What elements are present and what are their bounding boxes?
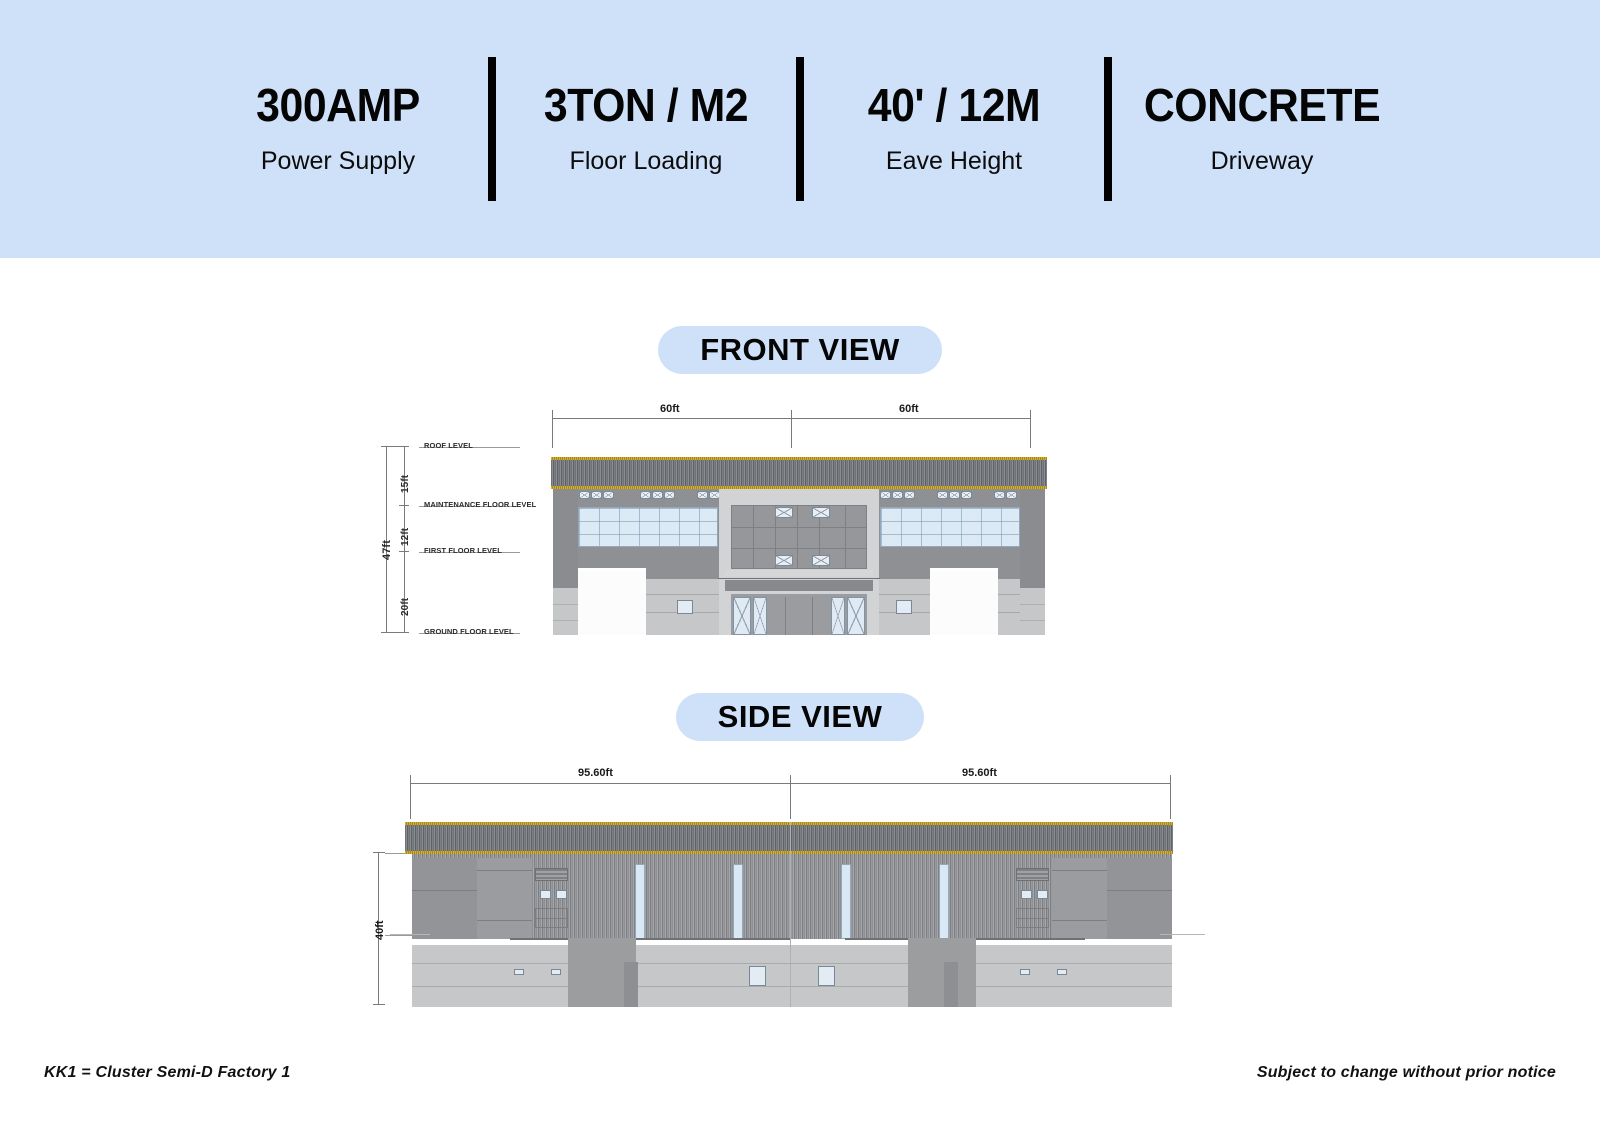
side-dim-label-left: 95.60ft — [578, 767, 613, 779]
side-awning-left — [510, 938, 790, 940]
side-b-louver — [1016, 868, 1049, 881]
side-dim-tick-mid — [790, 775, 791, 819]
side-ground-ref-right — [1160, 934, 1205, 935]
side-podium-win-5 — [749, 966, 766, 986]
side-a-block2-line-2 — [477, 920, 532, 921]
side-dim-label-right: 95.60ft — [962, 767, 997, 779]
side-b-win-2 — [1037, 890, 1048, 899]
side-b-panel-line — [1016, 918, 1049, 919]
side-roof-fascia — [405, 822, 1173, 854]
side-b-striplight-1 — [841, 864, 851, 939]
side-b-striplight-2 — [939, 864, 949, 939]
side-a-louver — [535, 868, 568, 881]
side-a-panel-line — [535, 918, 568, 919]
side-a-endblock-line — [412, 890, 477, 891]
side-a-block2-line-1 — [477, 870, 532, 871]
side-b-endblock — [1107, 858, 1172, 939]
side-a-striplight-1 — [635, 864, 645, 939]
side-core-left-door — [624, 962, 638, 1007]
side-core-right — [908, 938, 976, 1007]
side-center-axis — [790, 822, 791, 1007]
side-dim-tick-top — [373, 852, 385, 853]
side-view-drawing: 95.60ft 95.60ft 40ft — [0, 0, 1600, 1126]
side-b-block2-line-1 — [1052, 870, 1107, 871]
side-dim-tick-bottom — [373, 1004, 385, 1005]
side-dim-tick-left — [410, 775, 411, 819]
footer-left-note: KK1 = Cluster Semi-D Factory 1 — [44, 1064, 291, 1082]
side-a-striplight-2 — [733, 864, 743, 939]
side-a-win-1 — [540, 890, 551, 899]
side-podium-base — [412, 945, 1172, 1007]
side-podium-line-2 — [412, 986, 1172, 987]
side-a-win-2 — [556, 890, 567, 899]
side-podium-win-6 — [818, 966, 835, 986]
side-podium-win-1 — [514, 969, 524, 975]
side-podium-win-4 — [1057, 969, 1067, 975]
side-a-endblock — [412, 858, 477, 939]
side-dim-label-height: 40ft — [374, 920, 386, 940]
side-b-block2-line-2 — [1052, 920, 1107, 921]
side-b-endblock-line — [1107, 890, 1172, 891]
side-ground-ref-left — [390, 934, 430, 935]
footer-right-note: Subject to change without prior notice — [1257, 1064, 1556, 1082]
side-podium-line-1 — [412, 963, 1172, 964]
side-podium-win-3 — [1020, 969, 1030, 975]
side-core-right-door — [944, 962, 958, 1007]
side-dim-leader-mid — [385, 935, 415, 936]
side-podium-win-2 — [551, 969, 561, 975]
side-dim-tick-right — [1170, 775, 1171, 819]
side-b-win-1 — [1021, 890, 1032, 899]
